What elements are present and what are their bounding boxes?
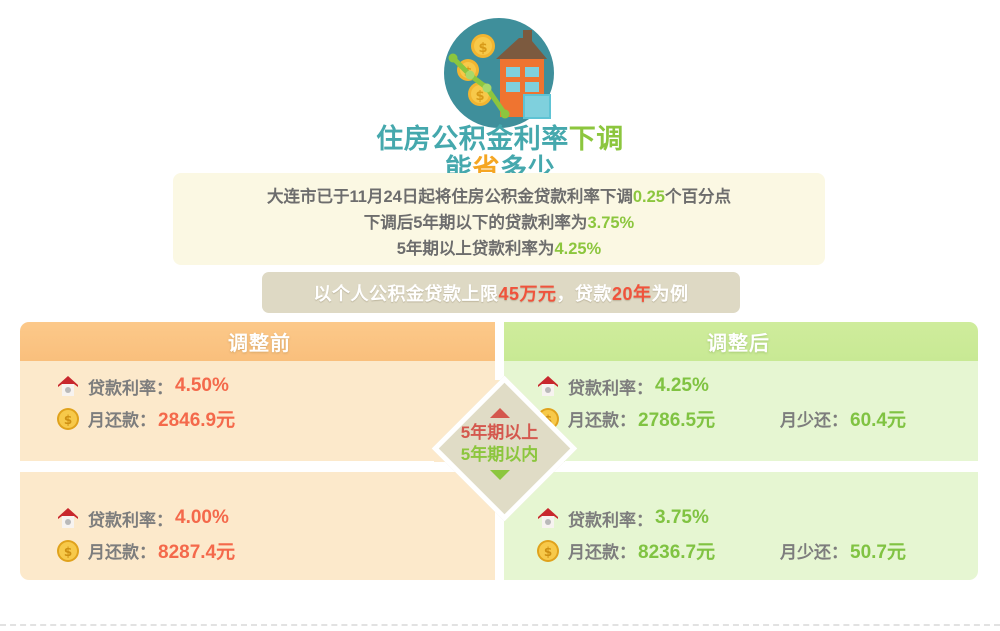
after-under5y-rate-label: 贷款利率： xyxy=(568,506,653,531)
intro-line1-text-b: 个百分点 xyxy=(665,188,731,206)
after-under5y-saving-label: 月少还： xyxy=(780,538,848,563)
coin-icon: $ xyxy=(55,538,81,564)
row-gap-left xyxy=(20,461,434,472)
after-over5y-saving-value: 60.4元 xyxy=(850,405,906,432)
after-under5y-rate-value: 3.75% xyxy=(655,507,709,529)
example-amount: 45万元 xyxy=(498,284,556,304)
before-over5y-rate-row: 贷款利率： 4.50% xyxy=(55,373,229,399)
before-over5y-monthly-value: 2846.9元 xyxy=(158,405,235,432)
triangle-down-icon xyxy=(490,470,510,480)
title-line1-accent: 下调 xyxy=(569,124,624,154)
intro-line-1: 大连市已于11月24日起将住房公积金贷款利率下调0.25个百分点 xyxy=(173,173,825,210)
example-banner: 以个人公积金贷款上限45万元，贷款20年为例 xyxy=(262,272,740,313)
column-seam-top xyxy=(495,322,504,380)
after-over5y-monthly-label: 月还款： xyxy=(568,406,636,431)
term-divider-diamond: 5年期以上 5年期以内 xyxy=(434,378,565,509)
example-text-b: ，贷款 xyxy=(557,284,613,304)
before-under5y-monthly-row: $ 月还款： 8287.4元 xyxy=(55,537,235,564)
after-over5y-rate-label: 贷款利率： xyxy=(568,374,653,399)
after-over5y-saving-row: 月少还： 60.4元 xyxy=(780,405,906,432)
after-under5y-saving-value: 50.7元 xyxy=(850,537,906,564)
title-line1-main: 住房公积金利率 xyxy=(376,124,569,154)
example-term: 20年 xyxy=(612,284,652,304)
example-banner-text: 以个人公积金贷款上限45万元，贷款20年为例 xyxy=(313,280,688,306)
after-under5y-monthly-value: 8236.7元 xyxy=(638,537,715,564)
before-under5y-rate-label: 贷款利率： xyxy=(88,506,173,531)
triangle-up-icon xyxy=(490,408,510,418)
intro-line2-text-a: 下调后5年期以下的贷款利率为 xyxy=(364,214,588,232)
row-gap-right xyxy=(565,461,978,472)
before-over5y-monthly-label: 月还款： xyxy=(88,406,156,431)
coin-icon: $ xyxy=(535,538,561,564)
after-under5y-monthly-row: $ 月还款： 8236.7元 xyxy=(535,537,715,564)
intro-line-3: 5年期以上贷款利率为4.25% xyxy=(173,236,825,262)
intro-line1-value: 0.25 xyxy=(633,188,665,206)
diamond-content: 5年期以上 5年期以内 xyxy=(434,378,565,509)
svg-text:$: $ xyxy=(64,413,72,427)
intro-line3-text-a: 5年期以上贷款利率为 xyxy=(397,240,555,258)
intro-line-2: 下调后5年期以下的贷款利率为3.75% xyxy=(173,210,825,236)
svg-text:$: $ xyxy=(544,545,552,559)
before-under5y-monthly-label: 月还款： xyxy=(88,538,156,563)
example-text-a: 以个人公积金贷款上限 xyxy=(313,284,498,304)
before-over5y-monthly-row: $ 月还款： 2846.9元 xyxy=(55,405,235,432)
after-over5y-monthly-value: 2786.5元 xyxy=(638,405,715,432)
before-over5y-rate-value: 4.50% xyxy=(175,375,229,397)
house-icon xyxy=(55,373,81,399)
intro-line3-value: 4.25% xyxy=(554,240,601,258)
before-under5y-monthly-value: 8287.4元 xyxy=(158,537,235,564)
after-under5y-saving-row: 月少还： 50.7元 xyxy=(780,537,906,564)
before-under5y-rate-value: 4.00% xyxy=(175,507,229,529)
svg-text:$: $ xyxy=(478,41,487,56)
panel-after-header: 调整后 xyxy=(499,322,978,361)
coin-icon: $ xyxy=(55,406,81,432)
panel-before-header-label: 调整前 xyxy=(228,327,291,356)
infographic-page: $ $ $ 住房公积金利率下调 能省多少 大连市已于11月24日起将住房公积金贷… xyxy=(0,0,1000,631)
diamond-down-label: 5年期以内 xyxy=(461,444,538,466)
example-text-c: 为例 xyxy=(652,284,689,304)
intro-box: 大连市已于11月24日起将住房公积金贷款利率下调0.25个百分点 下调后5年期以… xyxy=(173,173,825,265)
after-under5y-monthly-label: 月还款： xyxy=(568,538,636,563)
hero-illustration: $ $ $ xyxy=(437,18,562,128)
svg-text:$: $ xyxy=(64,545,72,559)
svg-text:$: $ xyxy=(475,89,484,104)
intro-line1-text-a: 大连市已于11月24日起将住房公积金贷款利率下调 xyxy=(267,188,633,206)
house-icon xyxy=(55,505,81,531)
after-over5y-saving-label: 月少还： xyxy=(780,406,848,431)
before-under5y-rate-row: 贷款利率： 4.00% xyxy=(55,505,229,531)
diamond-up-label: 5年期以上 xyxy=(461,422,538,444)
house-coins-chart-icon: $ $ $ xyxy=(437,18,562,128)
intro-line2-value: 3.75% xyxy=(587,214,634,232)
footer-divider xyxy=(0,624,1000,626)
panel-before-header: 调整前 xyxy=(20,322,499,361)
panel-after-header-label: 调整后 xyxy=(707,327,770,356)
after-over5y-rate-value: 4.25% xyxy=(655,375,709,397)
before-over5y-rate-label: 贷款利率： xyxy=(88,374,173,399)
title-line-1: 住房公积金利率下调 xyxy=(0,124,1000,154)
